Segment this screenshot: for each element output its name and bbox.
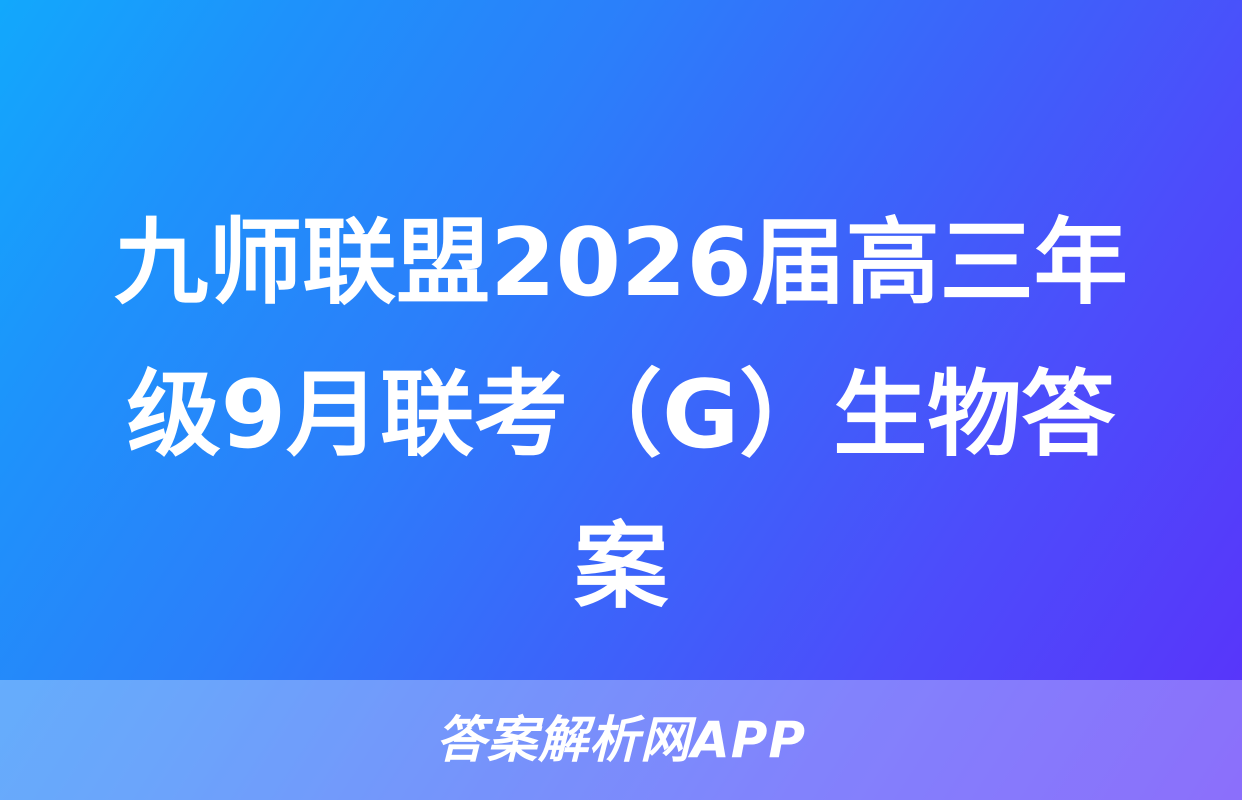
headline-container: 九师联盟2026届高三年级9月联考（G）生物答案 bbox=[0, 188, 1242, 608]
watermark-text: 答案解析网APP bbox=[436, 715, 806, 765]
watermark-band: 答案解析网APP bbox=[0, 680, 1242, 800]
page-title: 九师联盟2026届高三年级9月联考（G）生物答案 bbox=[106, 188, 1136, 644]
title-card-canvas: 九师联盟2026届高三年级9月联考（G）生物答案 答案解析网APP bbox=[0, 0, 1242, 800]
